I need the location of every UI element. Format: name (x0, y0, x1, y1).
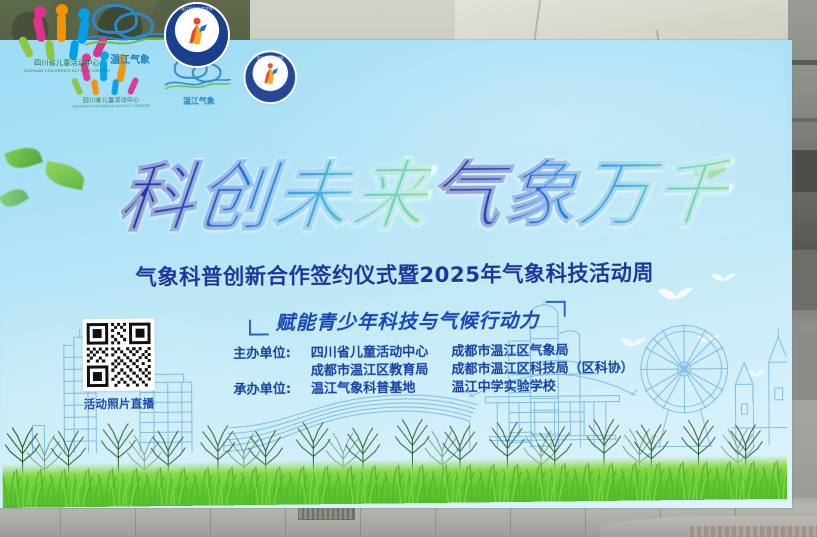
qr-code-matrix (87, 323, 151, 388)
organizer-label: 承办单位: (233, 381, 311, 400)
grass-blades (3, 447, 788, 508)
gravel-strip (690, 526, 817, 537)
banner-main-title: 科创未来 气象万千 (118, 139, 693, 253)
title-part-2: 气象万千 (425, 156, 732, 232)
banner-tagline: 赋能青少年科技与气候行动力 (249, 304, 566, 336)
school-emblem-icon (184, 17, 210, 52)
host-line2-col2: 成都市温江区科技局（区科协） (451, 360, 629, 380)
logo-wenjiang-experimental-school-top: 温江中学实验学校 (166, 4, 228, 66)
top-logo-row: 四川省儿童活动中心 SICHUAN CHILDREN'S ACTIVITY CE… (0, 0, 260, 108)
organizer-block: 主办单位: 四川省儿童活动中心 成都市温江区气象局 成都市温江区教育局 成都市温… (233, 342, 629, 400)
qr-caption: 活动照片直播 (78, 395, 160, 412)
logo-wenjiang-weather-top: 温江气象 (82, 2, 178, 64)
logo-name-cn: 温江气象 (110, 55, 150, 66)
emblem-ring-text: 温江中学实验学校 (166, 7, 228, 12)
banner-tagline-frame: 赋能青少年科技与气候行动力 (249, 301, 566, 336)
leaf-icon (43, 161, 87, 191)
photo-scene: 四川省儿童活动中心 SICHUAN CHILDREN'S ACTIVITY CE… (0, 0, 817, 537)
leaf-icon (4, 143, 43, 173)
school-emblem-icon (260, 62, 280, 91)
organizer-col1: 温江气象科普基地 (311, 379, 452, 398)
host-line1-col2: 成都市温江区气象局 (451, 342, 629, 362)
leaf-icon (0, 184, 29, 211)
logo-name-en: SICHUAN CHILDREN'S ACTIVITY CENTER (8, 68, 126, 73)
event-banner: 四川省儿童活动中心 SICHUAN CHILDREN'S ACTIVITY CE… (0, 40, 792, 508)
host-line2-col1: 成都市温江区教育局 (311, 361, 452, 380)
host-label: 主办单位: (233, 345, 311, 364)
host-label-spacer (233, 363, 311, 382)
organizer-col2: 温江中学实验学校 (452, 378, 630, 398)
qr-block: 活动照片直播 (78, 318, 160, 412)
title-part-1: 科创未来 (115, 158, 432, 236)
host-line1-col1: 四川省儿童活动中心 (311, 344, 452, 363)
qr-code-icon[interactable] (83, 319, 155, 392)
background-street (788, 0, 817, 520)
